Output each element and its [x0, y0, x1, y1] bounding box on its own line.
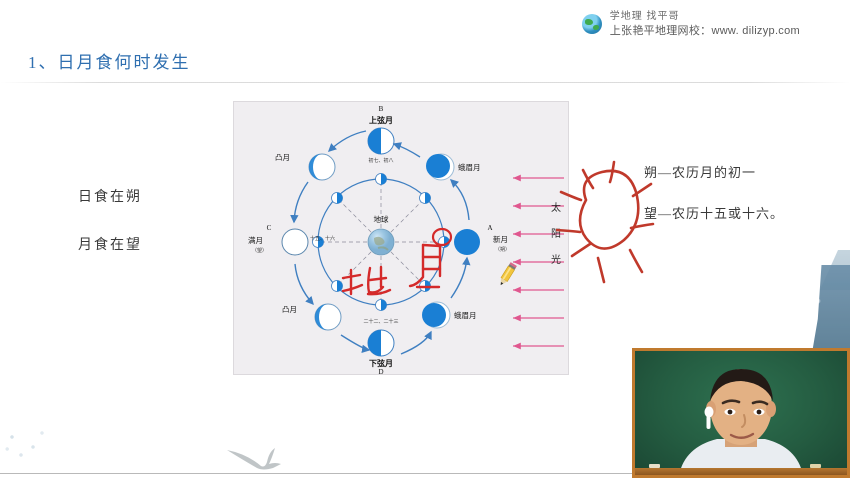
- phase-date-last-quarter: 二十二、二十三: [363, 318, 398, 325]
- phase-moon-waning-gibbous: [315, 304, 341, 330]
- phase-date-full-moon: 十五、十六: [310, 235, 335, 242]
- annotation-sun-sketch: [556, 160, 656, 290]
- slide-root: 学地理 找平哥 上张艳平地理网校：www. dilizyp.com 1、日月食何…: [0, 0, 850, 478]
- chalk-tray: [635, 468, 847, 475]
- phase-moon-waxing-crescent: [426, 154, 454, 180]
- brand-line-2: 上张艳平地理网校：www. dilizyp.com: [610, 24, 800, 39]
- brand-header: 学地理 找平哥 上张艳平地理网校：www. dilizyp.com: [582, 10, 800, 38]
- brand-text: 学地理 找平哥 上张艳平地理网校：www. dilizyp.com: [610, 10, 800, 38]
- minor-label-waxing-gibbous: 凸月: [275, 153, 290, 162]
- title-divider: [0, 82, 850, 83]
- phase-sub-new-moon: （朔）: [495, 246, 510, 253]
- phase-label-last-quarter: 下弦月: [369, 358, 393, 368]
- chalk-piece-1: [649, 464, 660, 468]
- earth-label: 地球: [374, 214, 389, 224]
- phase-sub-full-moon: （望）: [252, 247, 267, 254]
- phase-letter-b: B: [379, 105, 384, 113]
- phase-letter-c: C: [267, 224, 272, 232]
- minor-label-waning-gibbous: 凸月: [282, 305, 297, 314]
- minor-label-waxing-crescent: 蛾眉月: [458, 162, 481, 172]
- right-text-line-2: 望—农历十五或十六。: [644, 203, 784, 222]
- phase-moon-new: [454, 229, 480, 255]
- globe-icon: [582, 14, 602, 34]
- phase-label-new-moon: 新月: [493, 234, 508, 244]
- page-title: 1、日月食何时发生: [28, 48, 191, 73]
- chalk-piece-2: [810, 464, 821, 468]
- brand-line-1: 学地理 找平哥: [610, 10, 800, 24]
- diagram-svg: 地球: [234, 102, 568, 374]
- teacher-figure: [661, 367, 821, 475]
- phase-moon-waxing-gibbous: [309, 154, 335, 180]
- left-text-line-2: 月食在望: [78, 234, 142, 254]
- phase-letter-a: A: [487, 224, 492, 232]
- phase-moon-first-quarter: [368, 128, 394, 154]
- right-text-line-1: 朔—农历月的初一: [644, 162, 784, 181]
- phase-letter-d: D: [378, 368, 383, 374]
- right-text-block: 朔—农历月的初一 望—农历十五或十六。: [644, 162, 784, 244]
- phase-label-full-moon: 满月: [248, 235, 263, 245]
- teacher-webcam[interactable]: [632, 348, 850, 478]
- annotation-handwritten-earth: [343, 267, 390, 294]
- phase-date-first-quarter: 初七、初八: [368, 157, 393, 164]
- phase-moon-last-quarter: [368, 330, 394, 356]
- minor-label-waning-crescent: 蛾眉月: [454, 310, 477, 320]
- pencil-icon[interactable]: [496, 262, 518, 288]
- phase-moon-full: [282, 229, 308, 255]
- left-text-block: 日食在朔 月食在望: [78, 186, 142, 282]
- phase-moon-waning-crescent: [422, 302, 450, 328]
- phase-label-first-quarter: 上弦月: [369, 115, 393, 125]
- left-text-line-1: 日食在朔: [78, 186, 142, 206]
- decor-dust-left: [0, 425, 60, 465]
- bird-silhouette-icon: [225, 444, 295, 470]
- moon-phases-diagram: 地球: [233, 101, 569, 375]
